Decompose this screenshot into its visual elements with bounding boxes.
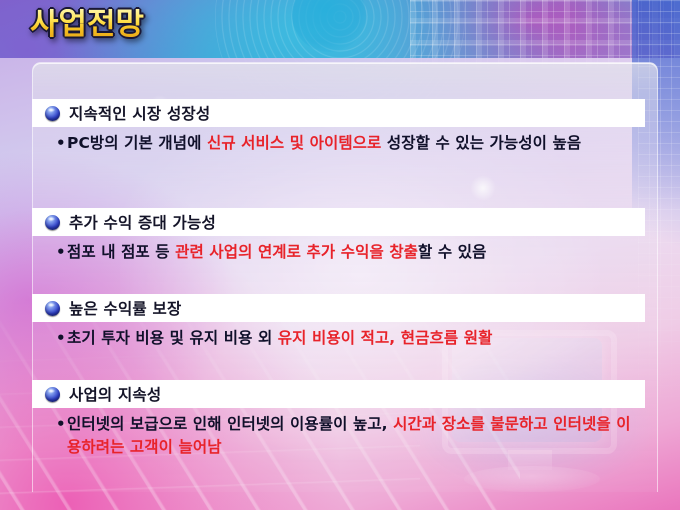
section-group: 지속적인 시장 성장성 • PC방의 기본 개념에 신규 서비스 및 아이템으로… — [32, 99, 658, 155]
bullet-part-highlight: 관련 사업의 연계로 추가 수익을 창출 — [175, 243, 418, 261]
content-area: 지속적인 시장 성장성 • PC방의 기본 개념에 신규 서비스 및 아이템으로… — [32, 62, 658, 492]
bullet-dot-icon: • — [56, 241, 66, 263]
section-bullet-text: • 점포 내 점포 등 관련 사업의 연계로 추가 수익을 창출할 수 있음 — [32, 241, 632, 264]
bullet-part-highlight: 유지 비용이 적고, 현금흐름 원활 — [278, 329, 493, 347]
blue-sphere-bullet-icon — [45, 215, 60, 230]
section-bullet-text: • 인터넷의 보급으로 인해 인터넷의 이용률이 높고, 시간과 장소를 불문하… — [32, 413, 632, 459]
bullet-dot-icon: • — [56, 413, 66, 435]
section-heading-label: 지속적인 시장 성장성 — [69, 102, 210, 124]
bullet-part: PC방의 기본 개념에 — [67, 134, 207, 152]
slide-title: 사업전망 — [30, 9, 144, 40]
bullet-part: 초기 투자 비용 및 유지 비용 외 — [67, 329, 278, 347]
bullet-dot-icon: • — [56, 132, 66, 154]
bullet-part: 점포 내 점포 등 — [67, 243, 175, 261]
bullet-part: 성장할 수 있는 가능성이 높음 — [381, 134, 581, 152]
bullet-part-highlight: 신규 서비스 및 아이템으로 — [207, 134, 381, 152]
section-heading-label: 높은 수익률 보장 — [69, 297, 181, 319]
section-heading-label: 추가 수익 증대 가능성 — [69, 211, 216, 233]
section-heading-band[interactable]: 높은 수익률 보장 — [32, 294, 645, 322]
bullet-part: 할 수 있음 — [418, 243, 486, 261]
bullet-dot-icon: • — [56, 327, 66, 349]
blue-sphere-bullet-icon — [45, 301, 60, 316]
section-heading-band[interactable]: 사업의 지속성 — [32, 380, 645, 408]
section-heading-label: 사업의 지속성 — [69, 383, 161, 405]
section-group: 사업의 지속성 • 인터넷의 보급으로 인해 인터넷의 이용률이 높고, 시간과… — [32, 380, 658, 459]
blue-sphere-bullet-icon — [45, 387, 60, 402]
section-group: 추가 수익 증대 가능성 • 점포 내 점포 등 관련 사업의 연계로 추가 수… — [32, 208, 658, 264]
section-heading-band[interactable]: 지속적인 시장 성장성 — [32, 99, 645, 127]
section-group: 높은 수익률 보장 • 초기 투자 비용 및 유지 비용 외 유지 비용이 적고… — [32, 294, 658, 350]
section-bullet-text: • 초기 투자 비용 및 유지 비용 외 유지 비용이 적고, 현금흐름 원활 — [32, 327, 632, 350]
presentation-slide: 사업전망 지속적인 시장 성장성 • PC방의 기본 개념에 신규 서비스 및 … — [0, 0, 680, 510]
section-heading-band[interactable]: 추가 수익 증대 가능성 — [32, 208, 645, 236]
section-bullet-text: • PC방의 기본 개념에 신규 서비스 및 아이템으로 성장할 수 있는 가능… — [32, 132, 632, 155]
bullet-part: 인터넷의 보급으로 인해 인터넷의 이용률이 높고, — [67, 415, 393, 433]
blue-sphere-bullet-icon — [45, 106, 60, 121]
